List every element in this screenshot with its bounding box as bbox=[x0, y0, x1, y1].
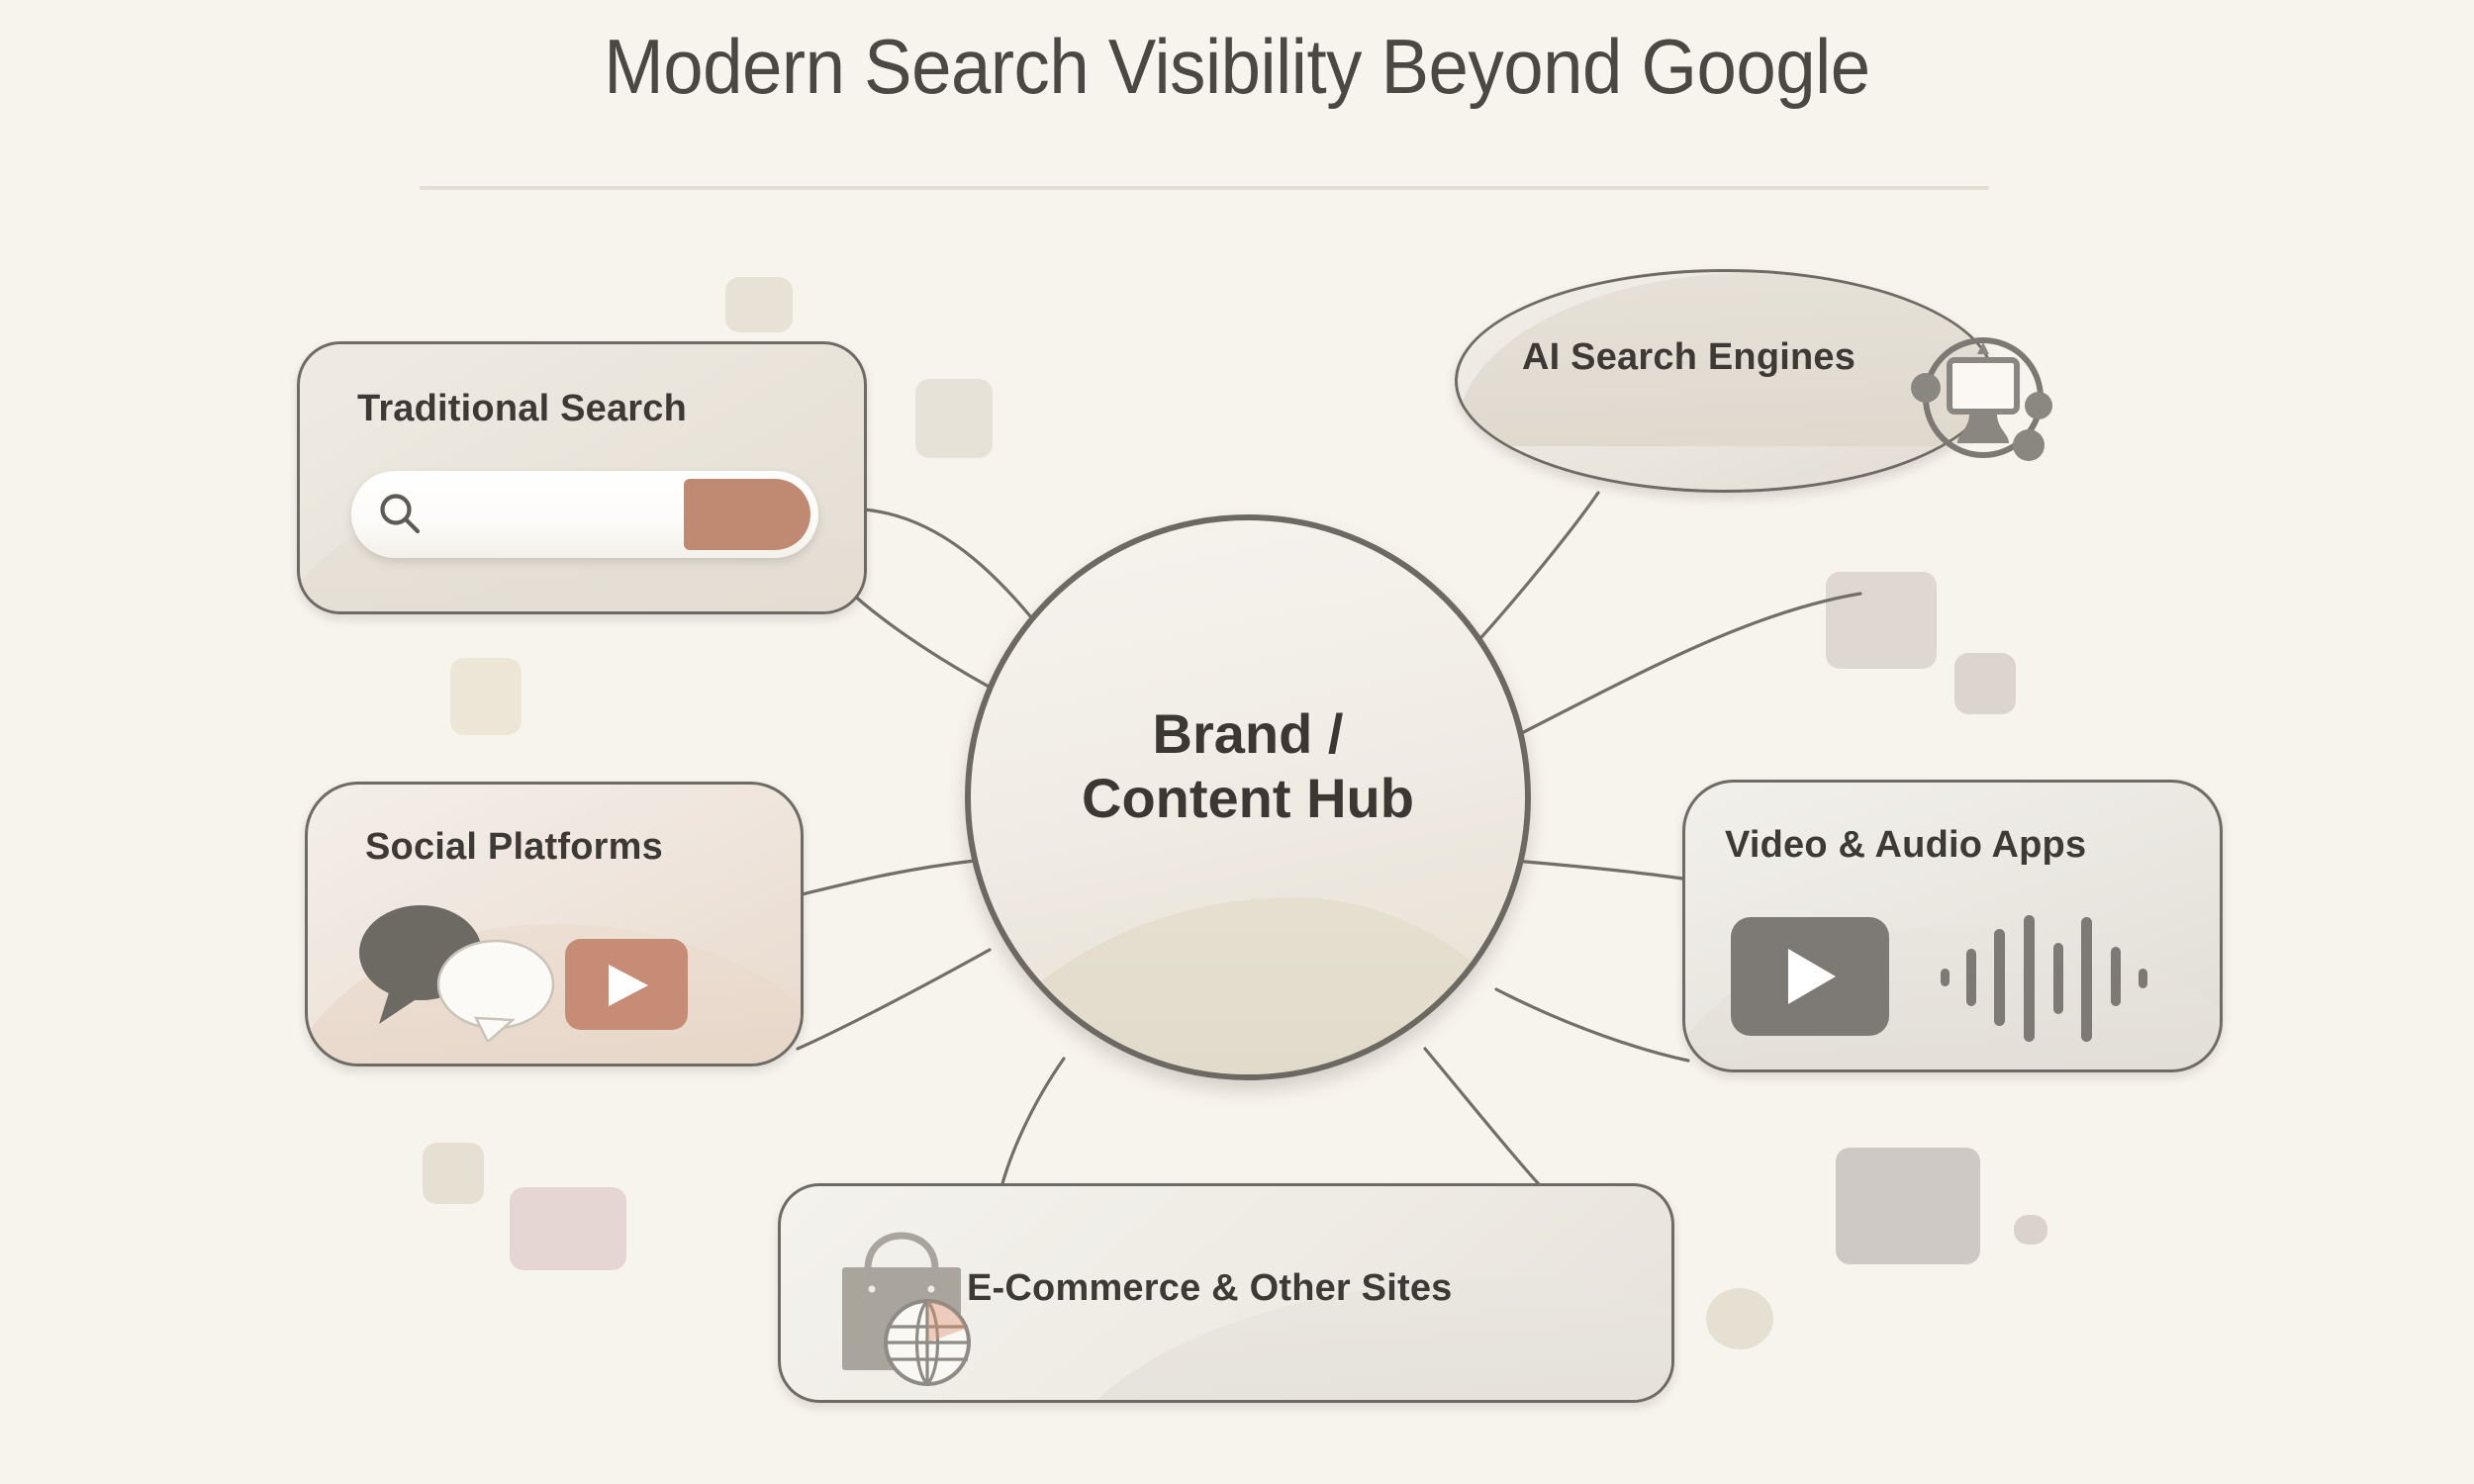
diagram-canvas: Modern Search Visibility Beyond Google B… bbox=[0, 0, 2474, 1484]
hub-label: Brand / Content Hub bbox=[971, 702, 1525, 831]
video-audio-apps-card[interactable]: Video & Audio Apps bbox=[1682, 780, 2223, 1072]
rect-lower-left bbox=[510, 1187, 626, 1270]
search-icon bbox=[375, 489, 427, 545]
square-far-right bbox=[2014, 1215, 2047, 1245]
hub-label-line-2: Content Hub bbox=[971, 767, 1525, 831]
speech-bubble-light-icon bbox=[438, 941, 553, 1042]
play-button-icon bbox=[1731, 917, 1889, 1036]
network-monitor-icon bbox=[1900, 323, 2066, 476]
waveform-icon bbox=[1941, 915, 2147, 1042]
ecommerce-icon-group bbox=[824, 1218, 993, 1397]
square-left-mid bbox=[450, 658, 522, 735]
edge-hub-ai-b bbox=[1484, 594, 1860, 752]
hub-label-line-1: Brand / bbox=[971, 702, 1525, 767]
page-title: Modern Search Visibility Beyond Google bbox=[87, 28, 2388, 105]
square-right-upper bbox=[1826, 572, 1937, 669]
square-lower-right bbox=[1836, 1148, 1980, 1264]
edge-hub-ecom bbox=[1001, 1059, 1064, 1187]
traditional-search-card[interactable]: Traditional Search bbox=[297, 341, 867, 614]
circle-lower-right bbox=[1706, 1288, 1773, 1349]
square-lower-left bbox=[423, 1143, 484, 1204]
node-ai-search-engines[interactable]: AI Search Engines bbox=[1455, 269, 1995, 493]
square-right-small bbox=[1954, 653, 2016, 714]
video-audio-icon-group bbox=[1731, 903, 2166, 1055]
brand-content-hub[interactable]: Brand / Content Hub bbox=[965, 514, 1531, 1080]
edge-hub-video-b bbox=[1496, 989, 1688, 1061]
node-label-video-audio-apps: Video & Audio Apps bbox=[1725, 824, 2086, 867]
edge-hub-social bbox=[798, 861, 975, 895]
node-ecommerce-other-sites[interactable]: E-Commerce & Other Sites bbox=[778, 1183, 1674, 1403]
ecommerce-other-sites-card[interactable]: E-Commerce & Other Sites bbox=[778, 1183, 1674, 1403]
search-input[interactable] bbox=[351, 471, 818, 558]
edge-hub-social-b bbox=[798, 950, 990, 1049]
globe-icon bbox=[886, 1301, 969, 1384]
square-top-left bbox=[725, 277, 793, 332]
node-social-platforms[interactable]: Social Platforms bbox=[305, 782, 804, 1067]
play-button-icon bbox=[565, 939, 688, 1030]
social-icon-group bbox=[349, 901, 745, 1047]
node-label-ai-search-engines: AI Search Engines bbox=[1522, 336, 1855, 379]
edge-hub-video bbox=[1514, 861, 1682, 879]
social-platforms-card[interactable]: Social Platforms bbox=[305, 782, 804, 1067]
node-label-traditional-search: Traditional Search bbox=[357, 388, 687, 430]
node-label-ecommerce-other-sites: E-Commerce & Other Sites bbox=[967, 1267, 1453, 1310]
hub-wave-accent bbox=[965, 897, 1531, 1080]
search-accent-block bbox=[684, 479, 810, 550]
title-block: Modern Search Visibility Beyond Google bbox=[0, 28, 2474, 105]
title-divider bbox=[420, 186, 1989, 190]
node-video-audio-apps[interactable]: Video & Audio Apps bbox=[1682, 780, 2223, 1072]
node-label-social-platforms: Social Platforms bbox=[365, 826, 663, 869]
node-traditional-search[interactable]: Traditional Search bbox=[297, 341, 867, 614]
square-top-mid bbox=[915, 379, 993, 458]
